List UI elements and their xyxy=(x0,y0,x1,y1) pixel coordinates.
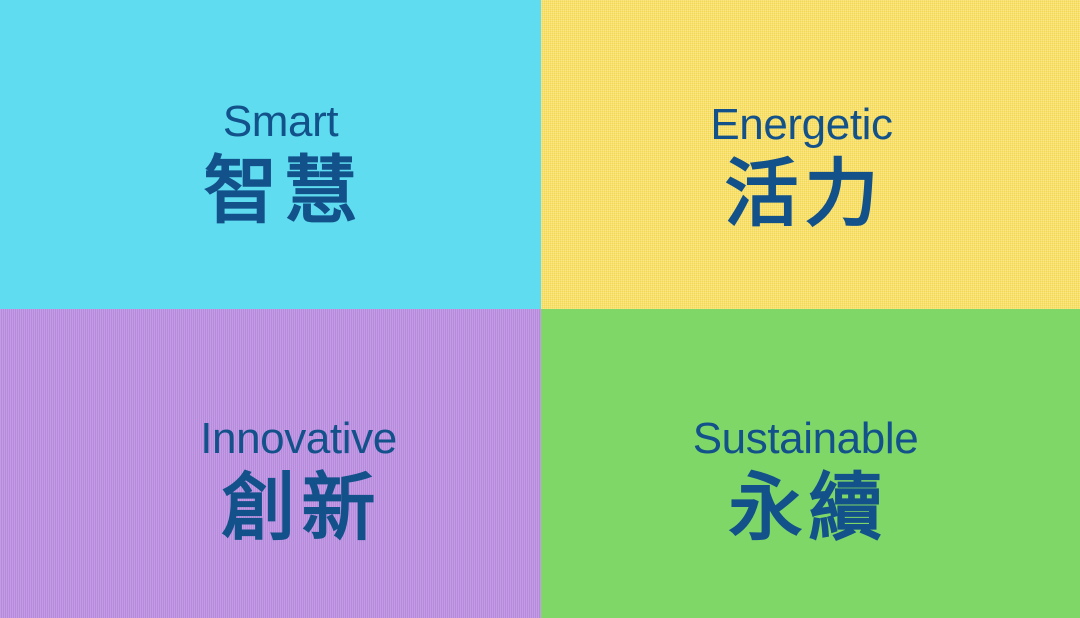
quadrant-sustainable[interactable]: Sustainable 永續 xyxy=(541,309,1080,618)
quadrant-smart-label-en: Smart xyxy=(223,100,338,144)
quadrant-energetic-label-cjk: 活力 xyxy=(719,157,885,231)
quadrant-energetic-content: Energetic 活力 xyxy=(541,12,1071,309)
quadrant-innovative-label-cjk: 創新 xyxy=(216,471,382,545)
quadrant-energetic[interactable]: Energetic 活力 xyxy=(541,0,1080,309)
brand-values-canvas: Smart 智慧 Energetic 活力 Innovative 創新 Sust… xyxy=(0,0,1080,618)
quadrant-smart[interactable]: Smart 智慧 xyxy=(0,0,541,309)
quadrant-smart-content: Smart 智慧 xyxy=(10,9,541,309)
quadrant-innovative-label-en: Innovative xyxy=(200,417,397,461)
quadrant-sustainable-label-cjk: 永續 xyxy=(723,471,889,545)
quadrant-smart-label-cjk: 智慧 xyxy=(198,154,364,228)
quadrant-sustainable-content: Sustainable 永續 xyxy=(541,326,1075,618)
quadrant-sustainable-label-en: Sustainable xyxy=(693,417,919,461)
quadrant-innovative[interactable]: Innovative 創新 xyxy=(0,309,541,618)
quadrant-energetic-label-en: Energetic xyxy=(710,103,892,147)
quadrant-innovative-content: Innovative 創新 xyxy=(28,326,541,618)
brand-values-grid: Smart 智慧 Energetic 活力 Innovative 創新 Sust… xyxy=(0,0,1080,618)
